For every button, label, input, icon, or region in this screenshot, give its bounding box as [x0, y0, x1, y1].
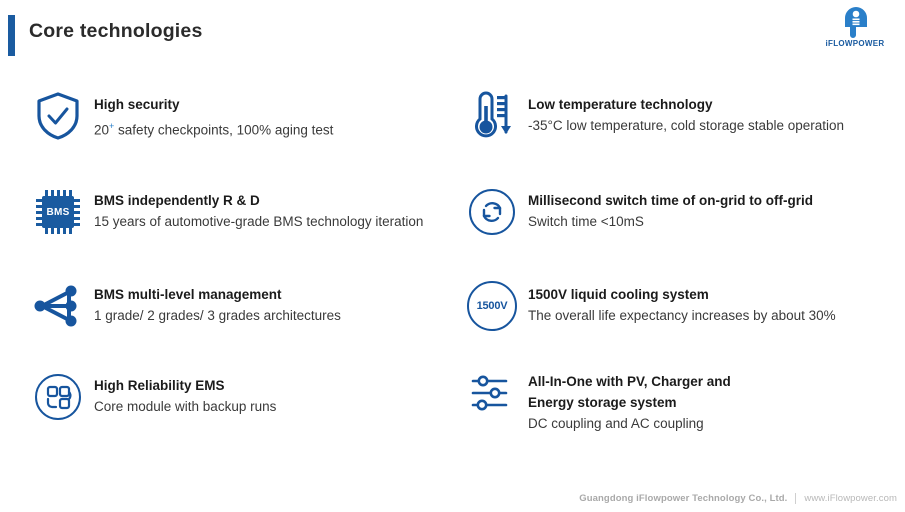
feature-title: Millisecond switch time of on-grid to of… — [528, 190, 813, 211]
logo-wordmark: iFLOWPOWER — [813, 39, 897, 48]
feature-item-low-temperature: Low temperature technology -35°C low tem… — [466, 90, 844, 142]
feature-text: High Reliability EMS Core module with ba… — [94, 371, 276, 418]
brand-logo: iFLOWPOWER — [813, 6, 897, 56]
feature-title: BMS independently R & D — [94, 190, 423, 211]
feature-text: Low temperature technology -35°C low tem… — [528, 90, 844, 137]
footer-divider — [795, 493, 796, 504]
feature-item-bms-multilevel: BMS multi-level management 1 grade/ 2 gr… — [32, 280, 341, 332]
bms-chip-icon: BMS — [32, 186, 84, 238]
feature-subtitle: 1 grade/ 2 grades/ 3 grades architecture… — [94, 305, 341, 327]
feature-item-high-security: High security 20+ safety checkpoints, 10… — [32, 90, 333, 142]
page-footer: Guangdong iFlowpower Technology Co., Ltd… — [579, 493, 897, 504]
sliders-icon — [466, 367, 518, 419]
feature-item-bms-rd: BMS — [32, 186, 423, 238]
feature-title: All-In-One with PV, Charger and — [528, 371, 731, 392]
feature-subtitle: 15 years of automotive-grade BMS technol… — [94, 211, 423, 233]
feature-subtitle: -35°C low temperature, cold storage stab… — [528, 115, 844, 137]
title-accent-bar — [8, 15, 15, 56]
feature-item-all-in-one: All-In-One with PV, Charger and Energy s… — [466, 367, 731, 435]
feature-item-millisecond-switch: Millisecond switch time of on-grid to of… — [466, 186, 813, 238]
feature-text: BMS independently R & D 15 years of auto… — [94, 186, 423, 233]
feature-text: Millisecond switch time of on-grid to of… — [528, 186, 813, 233]
share-network-icon — [32, 280, 84, 332]
feature-subtitle: The overall life expectancy increases by… — [528, 305, 836, 327]
voltage-circle-icon: 1500V — [466, 280, 518, 332]
footer-company-name: Guangdong iFlowpower Technology Co., Ltd… — [579, 493, 787, 504]
feature-title: 1500V liquid cooling system — [528, 284, 836, 305]
feature-subtitle: Core module with backup runs — [94, 396, 276, 418]
thermometer-down-icon — [466, 90, 518, 142]
feature-subtitle: Switch time <10mS — [528, 211, 813, 233]
feature-title-line2: Energy storage system — [528, 392, 731, 413]
page-header: Core technologies iFLOWPOWER — [0, 0, 905, 68]
refresh-circle-icon — [466, 186, 518, 238]
chip-label: BMS — [42, 196, 74, 228]
feature-item-high-reliability-ems: High Reliability EMS Core module with ba… — [32, 371, 276, 423]
feature-title: Low temperature technology — [528, 94, 844, 115]
page-title: Core technologies — [29, 20, 203, 43]
voltage-label: 1500V — [467, 281, 517, 331]
feature-text: 1500V liquid cooling system The overall … — [528, 280, 836, 327]
feature-title: BMS multi-level management — [94, 284, 341, 305]
feature-subtitle: DC coupling and AC coupling — [528, 413, 731, 435]
feature-title: High security — [94, 94, 333, 115]
feature-subtitle-rest: safety checkpoints, 100% aging test — [114, 123, 333, 138]
footer-website: www.iFlowpower.com — [804, 493, 897, 504]
feature-text: All-In-One with PV, Charger and Energy s… — [528, 367, 731, 435]
checkpoint-count: 20 — [94, 123, 109, 138]
feature-text: High security 20+ safety checkpoints, 10… — [94, 90, 333, 142]
feature-title: High Reliability EMS — [94, 375, 276, 396]
shield-check-icon — [32, 90, 84, 142]
feature-subtitle: 20+ safety checkpoints, 100% aging test — [94, 115, 333, 142]
backup-blocks-circle-icon — [32, 371, 84, 423]
feature-item-liquid-cooling: 1500V 1500V liquid cooling system The ov… — [466, 280, 836, 332]
chip-graphic: BMS — [36, 190, 80, 234]
iflowpower-logo-icon — [841, 6, 871, 38]
feature-text: BMS multi-level management 1 grade/ 2 gr… — [94, 280, 341, 327]
